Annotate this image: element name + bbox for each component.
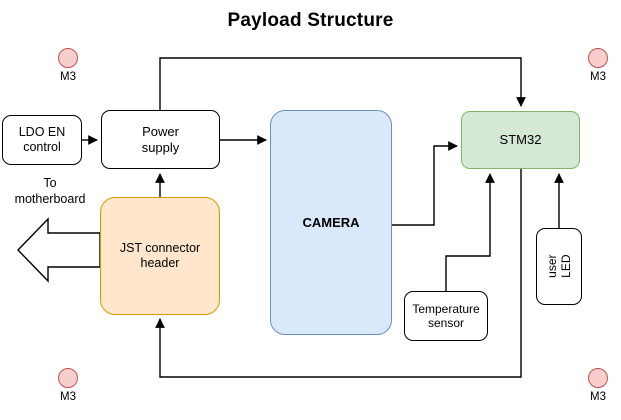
node-label-temperature-sensor: Temperaturesensor [405, 302, 487, 330]
mount-hole-m3-bottom-right: M3 [568, 368, 621, 403]
node-label-jst-connector-header: JST connectorheader [101, 241, 219, 271]
node-label-stm32: STM32 [462, 132, 579, 147]
node-label-camera: CAMERA [271, 215, 391, 230]
m3-circle-icon [58, 48, 78, 68]
label-to-motherboard: Tomotherboard [0, 176, 100, 207]
node-camera[interactable]: CAMERA [270, 110, 392, 335]
node-label-user-led: userLED [545, 245, 573, 289]
m3-label: M3 [38, 71, 98, 83]
diagram-canvas: Payload Structure LDO ENcontrol Powe [0, 0, 621, 420]
wire-power-to-stm32 [160, 58, 521, 110]
m3-label: M3 [38, 391, 98, 403]
node-user-led[interactable]: userLED [536, 228, 582, 305]
node-label-power-supply: Powersupply [102, 124, 219, 155]
node-label-ldo-en-control: LDO ENcontrol [3, 125, 81, 155]
m3-label: M3 [568, 71, 621, 83]
node-power-supply[interactable]: Powersupply [101, 110, 220, 169]
m3-label: M3 [568, 391, 621, 403]
m3-circle-icon [58, 368, 78, 388]
m3-circle-icon [588, 368, 608, 388]
mount-hole-m3-top-left: M3 [38, 48, 98, 83]
m3-circle-icon [588, 48, 608, 68]
node-ldo-en-control[interactable]: LDO ENcontrol [2, 115, 82, 165]
wire-temp-to-stm32 [446, 174, 490, 291]
node-stm32[interactable]: STM32 [461, 111, 580, 169]
mount-hole-m3-bottom-left: M3 [38, 368, 98, 403]
wire-camera-to-stm32 [392, 146, 457, 225]
mount-hole-m3-top-right: M3 [568, 48, 621, 83]
node-jst-connector-header[interactable]: JST connectorheader [100, 197, 220, 315]
block-arrow-to-motherboard [18, 219, 100, 281]
node-temperature-sensor[interactable]: Temperaturesensor [404, 291, 488, 341]
